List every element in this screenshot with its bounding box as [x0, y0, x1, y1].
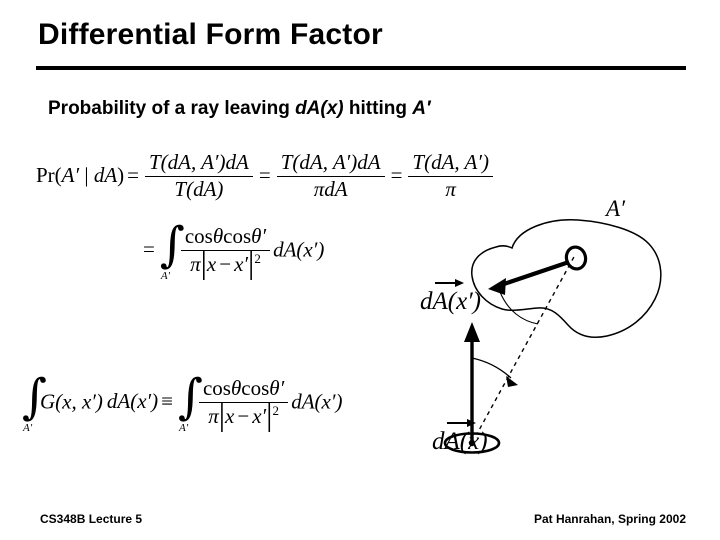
upper-normal-arrowhead: [488, 278, 506, 295]
eq2-x: x: [207, 252, 216, 276]
slide-subtitle: Probability of a ray leaving dA(x) hitti…: [48, 98, 431, 120]
eq3-denominator: π|x−x′|2: [199, 403, 288, 429]
eq1-frac1-denominator: T(dA): [145, 177, 253, 202]
eq3-exponent: 2: [272, 403, 279, 418]
diagram-label-lower-patch: dA (x): [432, 428, 488, 456]
lower-label-d: d: [432, 428, 445, 455]
eq2-equals: =: [140, 237, 158, 261]
eq2-minus: −: [216, 252, 234, 276]
eq3-x: x: [225, 404, 234, 428]
eq3-lhs-measure: dA(x′): [103, 389, 158, 413]
eq3-minus: −: [234, 404, 252, 428]
eq1-frac1-numerator: T(dA, A′)dA: [145, 151, 253, 177]
eq3-theta-1: θ: [231, 376, 241, 400]
subtitle-emphasis-aprime: A′: [412, 98, 430, 119]
eq3-cos-1: cos: [203, 376, 231, 400]
page-title: Differential Form Factor: [38, 18, 383, 52]
subtitle-lead: Probability of a ray leaving: [48, 98, 295, 119]
eq3-abs-open: |: [219, 406, 225, 425]
lower-angle-arc-arrowhead: [506, 376, 518, 387]
eq1-fraction-2: T(dA, A′)dA πdA: [277, 151, 385, 201]
equation-line-3: ∫ A′ G(x, x′)dA(x′)≡ ∫ A′ cosθcosθ′ π|x−…: [20, 378, 342, 429]
footer-author-label: Pat Hanrahan, Spring 2002: [534, 512, 686, 526]
eq1-frac3-numerator: T(dA, A′): [408, 151, 493, 177]
eq1-fraction-1: T(dA, A′)dA T(dA): [145, 151, 253, 201]
lower-label-A: A: [445, 428, 460, 455]
eq2-integral-limit: A′: [161, 270, 170, 282]
eq2-cos-2: cos: [223, 224, 251, 248]
ray-dashed-line: [472, 255, 575, 443]
eq2-fraction: cosθcosθ′ π|x−x′|2: [181, 225, 270, 276]
eq3-integral-limit-right: A′: [179, 422, 188, 434]
eq3-numerator: cosθcosθ′: [199, 377, 288, 403]
title-divider: [36, 66, 686, 70]
lower-label-vector-A: A: [445, 428, 460, 456]
eq3-fraction: cosθcosθ′ π|x−x′|2: [199, 377, 288, 428]
eq2-trailing-measure: dA(x′): [273, 237, 324, 261]
upper-label-A: A: [433, 288, 448, 315]
diagram-label-surface-aprime: A′: [606, 196, 625, 222]
diagram-label-upper-patch: dA (x′): [420, 288, 481, 316]
eq3-integral-right: ∫ A′: [178, 381, 194, 427]
eq2-numerator: cosθcosθ′: [181, 225, 270, 251]
eq2-abs-close: |: [248, 254, 254, 273]
eq3-pi: π: [208, 404, 219, 428]
surface-blob-outline: [472, 220, 661, 337]
upper-normal-vector-arrow: [498, 262, 569, 286]
eq2-abs-open: |: [201, 254, 207, 273]
eq3-x-prime: x′: [252, 404, 266, 428]
eq2-integral: ∫ A′: [160, 229, 176, 275]
eq3-trailing-measure: dA(x′): [291, 389, 342, 413]
eq2-exponent: 2: [254, 251, 261, 266]
eq1-equals-3: =: [388, 163, 406, 187]
lower-label-argument: (x): [460, 428, 488, 455]
lower-angle-arc-theta: [472, 358, 511, 378]
eq3-abs-close: |: [266, 406, 272, 425]
footer-course-label: CS348B Lecture 5: [40, 512, 142, 526]
upper-label-vector-A: A: [433, 288, 448, 316]
eq3-integral-left: ∫ A′: [22, 381, 38, 427]
eq1-frac2-denominator: πdA: [277, 177, 385, 202]
upper-label-argument: (x′): [448, 288, 481, 315]
eq2-cos-1: cos: [185, 224, 213, 248]
eq2-denominator: π|x−x′|2: [181, 251, 270, 277]
eq1-equals-1: =: [124, 163, 142, 187]
integral-icon: ∫: [22, 373, 47, 421]
eq2-x-prime: x′: [234, 252, 248, 276]
eq1-lhs: Pr(A′ | dA): [36, 163, 124, 187]
eq3-cos-2: cos: [241, 376, 269, 400]
equation-line-2: = ∫ A′ cosθcosθ′ π|x−x′|2 dA(x′): [140, 226, 324, 277]
eq3-identity-sign: ≡: [158, 389, 176, 413]
eq2-theta-1: θ: [213, 224, 223, 248]
slide-canvas: Differential Form Factor Probability of …: [0, 0, 720, 540]
eq1-frac2-numerator: T(dA, A′)dA: [277, 151, 385, 177]
eq2-pi: π: [190, 252, 201, 276]
subtitle-emphasis-dax: dA(x): [295, 98, 344, 119]
lower-normal-arrowhead: [464, 322, 480, 342]
subtitle-mid: hitting: [344, 98, 413, 119]
upper-label-d: d: [420, 288, 433, 315]
eq1-equals-2: =: [256, 163, 274, 187]
eq3-kernel-G: G(x, x′): [40, 389, 103, 413]
eq3-integral-limit-left: A′: [23, 422, 32, 434]
